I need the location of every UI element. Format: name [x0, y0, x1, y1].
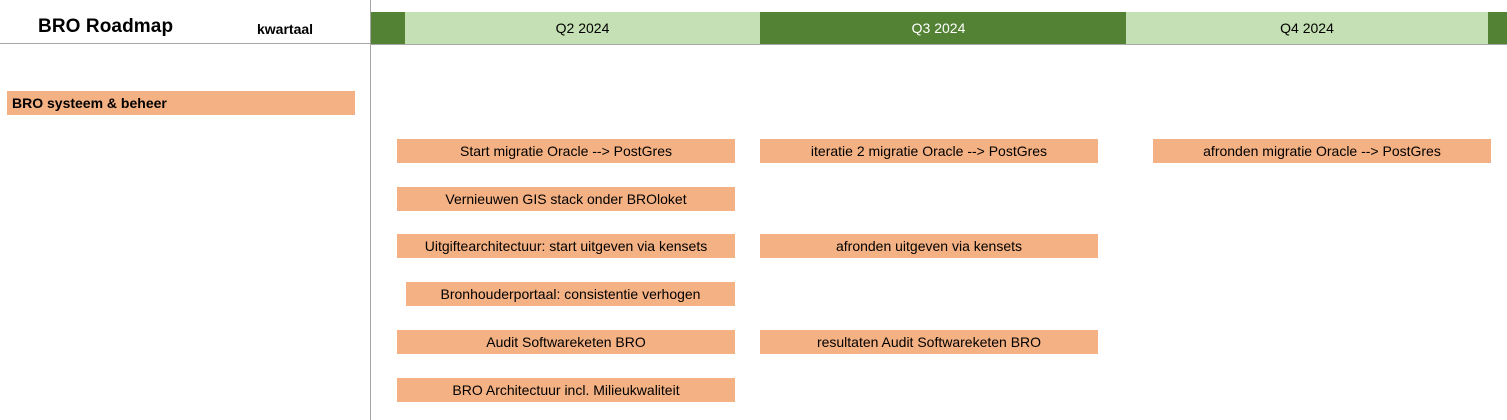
gantt-task-bar[interactable]: Vernieuwen GIS stack onder BROloket: [397, 187, 735, 211]
gantt-task-bar[interactable]: resultaten Audit Softwareketen BRO: [760, 330, 1098, 354]
timeline-separator: [1117, 12, 1126, 44]
gantt-task-bar[interactable]: Uitgiftearchitectuur: start uitgeven via…: [397, 234, 735, 258]
swimlane-header-bro-systeem-beheer[interactable]: BRO systeem & beheer: [7, 91, 355, 115]
timeline-quarter-cell[interactable]: Q3 2024: [760, 12, 1117, 44]
gantt-task-bar[interactable]: iteratie 2 migratie Oracle --> PostGres: [760, 139, 1098, 163]
column-divider: [370, 0, 371, 420]
gantt-task-label: Bronhouderportaal: consistentie verhogen: [441, 282, 701, 306]
quarter-label: Q3 2024: [912, 12, 966, 44]
page-title: BRO Roadmap: [38, 13, 173, 41]
roadmap-canvas: BRO Roadmap kwartaal BRO systeem & behee…: [0, 0, 1507, 420]
gantt-task-label: Vernieuwen GIS stack onder BROloket: [445, 187, 686, 211]
gantt-task-label: iteratie 2 migratie Oracle --> PostGres: [811, 139, 1047, 163]
gantt-task-bar[interactable]: afronden uitgeven via kensets: [760, 234, 1098, 258]
gantt-task-bar[interactable]: Audit Softwareketen BRO: [397, 330, 735, 354]
timeline-unit-label: kwartaal: [257, 16, 313, 42]
timeline-separator: [371, 12, 405, 44]
gantt-task-label: BRO Architectuur incl. Milieukwaliteit: [452, 378, 679, 402]
quarter-label: Q4 2024: [1280, 12, 1334, 44]
gantt-task-label: Uitgiftearchitectuur: start uitgeven via…: [425, 234, 707, 258]
timeline-header-divider: [371, 44, 1507, 45]
gantt-task-bar[interactable]: afronden migratie Oracle --> PostGres: [1153, 139, 1491, 163]
timeline-quarter-cell[interactable]: Q4 2024: [1126, 12, 1488, 44]
gantt-task-bar[interactable]: Start migratie Oracle --> PostGres: [397, 139, 735, 163]
timeline-header: Q2 2024 Q3 2024 Q4 2024: [371, 12, 1507, 44]
gantt-task-bar[interactable]: BRO Architectuur incl. Milieukwaliteit: [397, 378, 735, 402]
gantt-task-label: afronden migratie Oracle --> PostGres: [1203, 139, 1441, 163]
gantt-task-label: Start migratie Oracle --> PostGres: [460, 139, 672, 163]
gantt-task-label: Audit Softwareketen BRO: [486, 330, 646, 354]
gantt-task-label: resultaten Audit Softwareketen BRO: [817, 330, 1041, 354]
gantt-task-label: afronden uitgeven via kensets: [836, 234, 1022, 258]
quarter-label: Q2 2024: [556, 12, 610, 44]
timeline-quarter-cell[interactable]: Q2 2024: [405, 12, 760, 44]
title-divider: [0, 43, 370, 44]
title-block: BRO Roadmap kwartaal: [0, 13, 370, 43]
timeline-separator: [1488, 12, 1507, 44]
swimlane-header-label: BRO systeem & beheer: [7, 91, 167, 115]
gantt-task-bar[interactable]: Bronhouderportaal: consistentie verhogen: [406, 282, 735, 306]
left-label-column: BRO Roadmap kwartaal BRO systeem & behee…: [0, 0, 371, 420]
